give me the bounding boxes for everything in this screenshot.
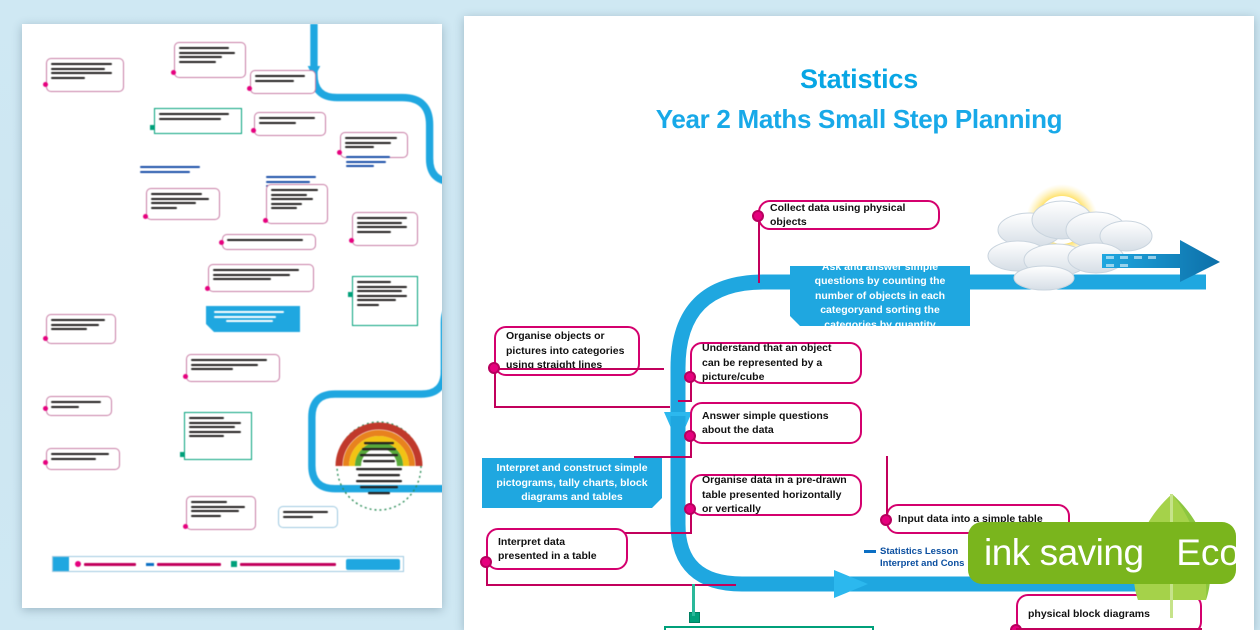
key-flag-icon xyxy=(53,557,69,571)
node-dot xyxy=(880,514,892,526)
connector-line xyxy=(494,406,670,408)
thumbnail-node-dot xyxy=(349,238,354,243)
resource-node[interactable] xyxy=(664,626,874,630)
thumbnail-green-node xyxy=(352,276,418,326)
thumbnail-node-dot xyxy=(43,336,48,341)
thumbnail-node xyxy=(352,212,418,246)
page-2-main[interactable]: Statistics Year 2 Maths Small Step Plann… xyxy=(464,16,1254,630)
node-dot xyxy=(684,430,696,442)
thumbnail-green-dot xyxy=(150,125,155,130)
thumbnail-node xyxy=(174,42,246,78)
thumbnail-node xyxy=(46,448,120,470)
node-dot xyxy=(684,371,696,383)
connector-line xyxy=(494,368,496,408)
link-label-1: Statistics Lesson xyxy=(880,546,958,557)
thumbnail-link xyxy=(140,166,200,175)
thumbnail-node-dot xyxy=(251,128,256,133)
node-label: Answer simple questions about the data xyxy=(702,409,850,438)
connector-line xyxy=(692,584,695,616)
page-title: Statistics xyxy=(464,64,1254,95)
node-answer-questions[interactable]: Answer simple questions about the data xyxy=(690,402,862,444)
node-label: Organise objects or pictures into catego… xyxy=(506,329,628,372)
thumbnail-node xyxy=(278,506,338,528)
thumbnail-node-dot xyxy=(183,524,188,529)
node-label: Organise data in a pre-drawn table prese… xyxy=(702,473,850,516)
thumbnail-node xyxy=(186,354,280,382)
node-dot xyxy=(480,556,492,568)
link-label-2: Interpret and Cons xyxy=(880,558,964,570)
thumbnail-node-dot xyxy=(43,82,48,87)
thumbnail-flowchart xyxy=(22,24,442,608)
thumbnail-green-dot xyxy=(348,292,353,297)
thumbnail-node-dot xyxy=(43,460,48,465)
thumbnail-green-node xyxy=(184,412,252,460)
thumbnail-node-dot xyxy=(143,214,148,219)
connector-line xyxy=(634,456,692,458)
thumbnail-node xyxy=(340,132,408,158)
thumbnail-node xyxy=(46,58,124,92)
watermark-eco-label: Eco xyxy=(1176,528,1240,578)
ink-saving-watermark: ink saving Eco xyxy=(958,488,1254,626)
link-dash-icon xyxy=(864,550,876,553)
connector-line xyxy=(758,215,760,283)
thumbnail-node xyxy=(46,396,112,416)
node-collect-data[interactable]: Collect data using physical objects xyxy=(758,200,940,230)
node-interpret-table[interactable]: Interpret data presented in a table xyxy=(486,528,628,570)
callout-interpret-construct[interactable]: Interpret and construct simple pictogram… xyxy=(482,458,662,508)
thumbnail-node-dot xyxy=(205,286,210,291)
node-dot xyxy=(684,503,696,515)
callout-label: Ask and answer simple questions by count… xyxy=(800,260,960,332)
thumbnail-node xyxy=(208,264,314,292)
key-item-links xyxy=(146,563,221,566)
page-1-thumbnail[interactable] xyxy=(22,24,442,608)
callout-label: Interpret and construct simple pictogram… xyxy=(492,461,652,504)
thumbnail-node-dot xyxy=(183,374,188,379)
connector-line xyxy=(494,368,664,370)
node-dot xyxy=(488,362,500,374)
key-legend-bar xyxy=(52,556,404,572)
thumbnail-node xyxy=(186,496,256,530)
thumbnail-node xyxy=(254,112,326,136)
thumbnail-node xyxy=(250,70,316,94)
key-button[interactable] xyxy=(346,559,400,570)
key-item-objectives xyxy=(75,561,136,567)
screenshot-root: Statistics Year 2 Maths Small Step Plann… xyxy=(0,0,1260,630)
thumbnail-node xyxy=(222,234,316,250)
thumbnail-link xyxy=(346,156,390,170)
connector-line xyxy=(486,584,736,586)
thumbnail-node-dot xyxy=(263,218,268,223)
page-subtitle: Year 2 Maths Small Step Planning xyxy=(464,104,1254,135)
node-label: Interpret data presented in a table xyxy=(498,535,616,564)
node-label: Understand that an object can be represe… xyxy=(702,341,850,384)
node-organise-predrawn[interactable]: Organise data in a pre-drawn table prese… xyxy=(690,474,862,516)
node-understand-object[interactable]: Understand that an object can be represe… xyxy=(690,342,862,384)
connector-line xyxy=(678,400,692,402)
thumbnail-node xyxy=(266,184,328,224)
node-label: Collect data using physical objects xyxy=(770,201,928,230)
thumbnail-node-dot xyxy=(337,150,342,155)
rainbow-key-learning-icon xyxy=(330,408,428,512)
thumbnail-node-dot xyxy=(43,406,48,411)
thumbnail-green-node xyxy=(154,108,242,134)
thumbnail-callout xyxy=(206,306,300,332)
sun-behind-clouds-icon xyxy=(984,168,1236,300)
thumbnail-node-dot xyxy=(171,70,176,75)
thumbnail-node xyxy=(46,314,116,344)
thumbnail-node-dot xyxy=(247,86,252,91)
callout-ask-answer[interactable]: Ask and answer simple questions by count… xyxy=(790,266,970,326)
key-item-resources xyxy=(231,561,336,567)
thumbnail-node-dot xyxy=(219,240,224,245)
thumbnail-node xyxy=(146,188,220,220)
connector-line xyxy=(624,532,692,534)
node-dot xyxy=(752,210,764,222)
thumbnail-green-dot xyxy=(180,452,185,457)
connector-line xyxy=(886,456,888,520)
